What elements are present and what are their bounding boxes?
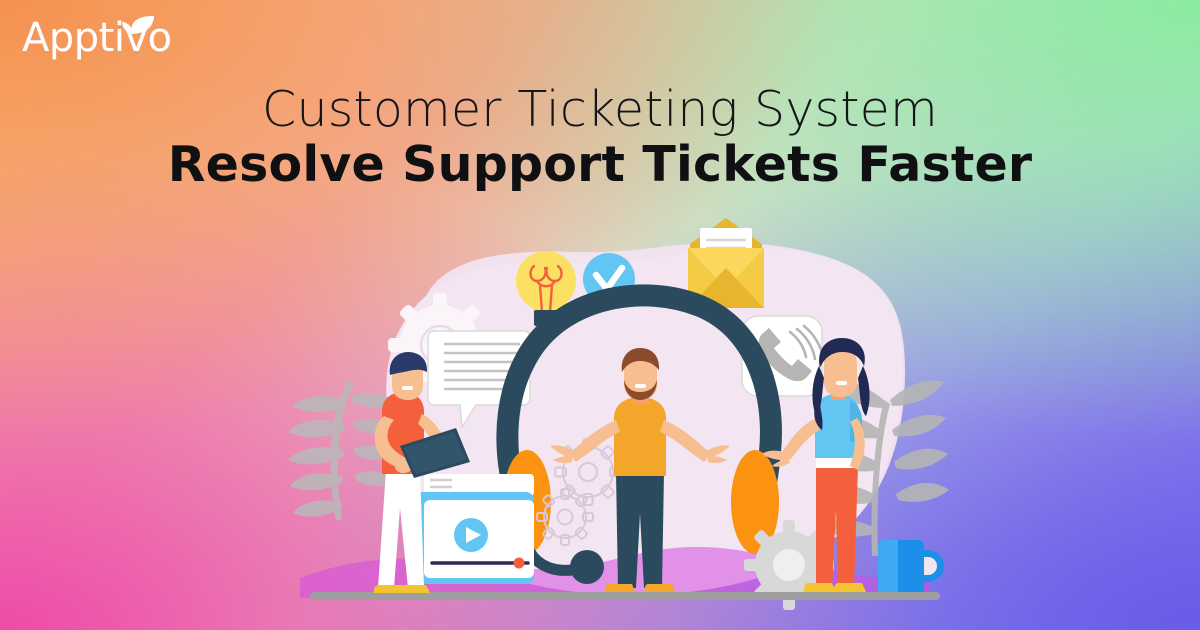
video-player-card[interactable]: [410, 474, 534, 584]
coffee-mug-icon: [878, 540, 944, 598]
banner: Apptivo Customer Ticketing System Resolv…: [0, 0, 1200, 630]
hero-illustration: [0, 0, 1200, 630]
ground-line: [310, 592, 940, 600]
